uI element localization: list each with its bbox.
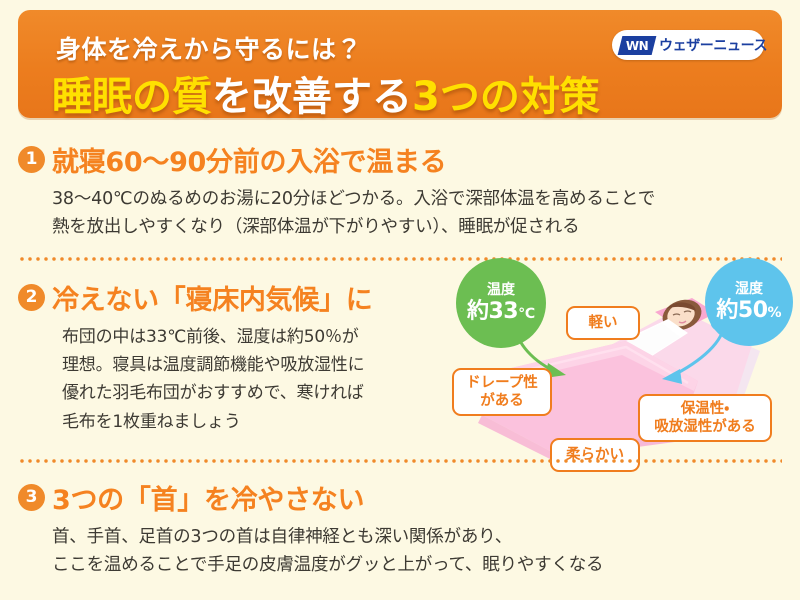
wn-mark-icon: WN: [618, 36, 657, 55]
section-2-body-line-3: 優れた羽毛布団がおすすめで、寒ければ: [62, 379, 478, 407]
tag-drape: ドレープ性 がある: [452, 368, 552, 416]
tag-drape-line-2: がある: [480, 392, 524, 410]
bubble-temperature-value-row: 約33℃: [467, 300, 535, 323]
section-2-title: 冷えない「寝床内気候」に: [52, 278, 372, 317]
header-subtitle: 身体を冷えから守るには？: [56, 30, 362, 66]
section-3-title: 3つの「首」を冷やさない: [52, 478, 364, 517]
section-2-number: 2: [18, 284, 45, 311]
bubble-temperature-label: 温度: [487, 283, 515, 298]
tag-light: 軽い: [566, 306, 640, 340]
infographic-canvas: 身体を冷えから守るには？ 睡眠の質を改善する3つの対策 WN ウェザーニュース …: [0, 0, 800, 600]
logo-wordmark: ウェザーニュース: [659, 35, 767, 55]
wn-mark-label: WN: [626, 38, 648, 52]
bubble-temperature-unit: ℃: [518, 306, 535, 322]
tag-insulation-line-2: 吸放湿性がある: [654, 418, 756, 436]
bubble-humidity-value: 約50: [716, 298, 767, 323]
section-2-body-line-2: 理想。寝具は温度調節機能や吸放湿性に: [62, 351, 478, 379]
section-1-number: 1: [18, 146, 45, 173]
bubble-humidity: 湿度 約50%: [705, 258, 793, 346]
tag-insulation: 保温性・ 吸放湿性がある: [638, 394, 772, 442]
section-2-body-line-4: 毛布を1枚重ねましょう: [62, 408, 478, 436]
futon-illustration: 温度 約33℃ 湿度 約50% 軽い ドレープ性 がある 柔らかい 保温性・ 吸…: [430, 255, 800, 470]
header-title: 睡眠の質を改善する3つの対策: [52, 64, 600, 122]
section-3: 3 3つの「首」を冷やさない 首、手首、足首の3つの首は自律神経とも深い関係があ…: [18, 478, 778, 580]
bubble-temperature-value: 約33: [467, 299, 518, 324]
section-3-body-line-2: ここを温めることで手足の皮膚温度がグッと上がって、眠りやすくなる: [52, 551, 778, 579]
tag-insulation-line-1: 保温性・: [681, 400, 729, 418]
section-3-body: 首、手首、足首の3つの首は自律神経とも深い関係があり、 ここを温めることで手足の…: [52, 523, 778, 580]
header-title-part3: 3: [412, 74, 440, 120]
bubble-humidity-value-row: 約50%: [716, 299, 781, 322]
section-1-title: 就寝60〜90分前の入浴で温まる: [52, 140, 446, 179]
section-1-body: 38〜40℃のぬるめのお湯に20分ほどつかる。入浴で深部体温を高めることで 熱を…: [52, 185, 778, 242]
tag-soft: 柔らかい: [550, 438, 640, 472]
tag-drape-line-1: ドレープ性: [466, 374, 538, 392]
section-2-body-line-1: 布団の中は33℃前後、湿度は約50％が: [62, 323, 478, 351]
section-3-number: 3: [18, 484, 45, 511]
section-1-body-line-1: 38〜40℃のぬるめのお湯に20分ほどつかる。入浴で深部体温を高めることで: [52, 185, 778, 213]
weathernews-logo[interactable]: WN ウェザーニュース: [612, 30, 764, 60]
header-banner: 身体を冷えから守るには？ 睡眠の質を改善する3つの対策 WN ウェザーニュース: [18, 10, 782, 118]
section-1-heading: 1 就寝60〜90分前の入浴で温まる: [18, 140, 778, 179]
section-2: 2 冷えない「寝床内気候」に 布団の中は33℃前後、湿度は約50％が 理想。寝具…: [18, 278, 478, 436]
header-title-part1: 睡眠の質: [52, 74, 212, 120]
bubble-humidity-unit: %: [768, 305, 782, 321]
section-3-body-line-1: 首、手首、足首の3つの首は自律神経とも深い関係があり、: [52, 523, 778, 551]
bubble-humidity-label: 湿度: [735, 282, 763, 297]
header-title-part4: つの対策: [440, 74, 600, 120]
section-2-body: 布団の中は33℃前後、湿度は約50％が 理想。寝具は温度調節機能や吸放湿性に 優…: [62, 323, 478, 436]
section-1-body-line-2: 熱を放出しやすくなり（深部体温が下がりやすい）、睡眠が促される: [52, 213, 778, 241]
section-3-heading: 3 3つの「首」を冷やさない: [18, 478, 778, 517]
divider-2: [18, 459, 782, 463]
bubble-temperature: 温度 約33℃: [456, 258, 546, 348]
header-title-part2: を改善する: [212, 74, 412, 120]
tag-light-line-1: 軽い: [589, 314, 618, 332]
section-2-heading: 2 冷えない「寝床内気候」に: [18, 278, 478, 317]
section-1: 1 就寝60〜90分前の入浴で温まる 38〜40℃のぬるめのお湯に20分ほどつか…: [18, 140, 778, 242]
